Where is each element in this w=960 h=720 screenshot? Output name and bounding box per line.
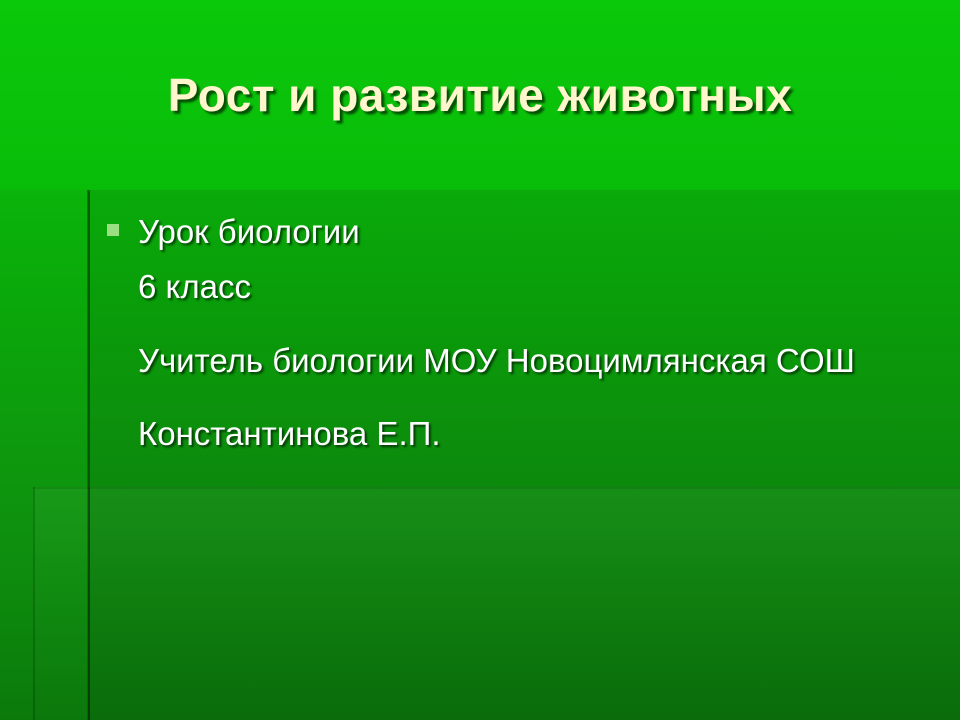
body-line-grade-label: 6 класс xyxy=(138,268,251,305)
body-line-school: Учитель биологии МОУ Новоцимлянская СОШ xyxy=(96,334,936,387)
presentation-slide: Рост и развитие животных Урок биологии 6… xyxy=(0,0,960,720)
lower-band-top-edge xyxy=(33,487,960,489)
bullet-list-item: Урок биологии xyxy=(96,205,936,258)
body-spacer xyxy=(96,316,936,334)
slide-body: Урок биологии 6 класс Учитель биологии М… xyxy=(96,205,936,463)
body-line-author: Константинова Е.П. xyxy=(96,407,936,460)
slide-title: Рост и развитие животных xyxy=(0,68,960,122)
bullet-list-item-label: Урок биологии xyxy=(138,213,360,250)
body-line-author-label: Константинова Е.П. xyxy=(138,415,441,452)
body-spacer-2 xyxy=(96,389,936,407)
lower-band-left-edge xyxy=(33,487,35,720)
body-line-school-label: Учитель биологии МОУ Новоцимлянская СОШ xyxy=(138,334,936,387)
lower-band-inner-edge xyxy=(88,487,90,720)
body-line-grade: 6 класс xyxy=(96,260,936,313)
lower-decorative-band xyxy=(33,487,960,720)
square-bullet-icon xyxy=(107,224,119,236)
